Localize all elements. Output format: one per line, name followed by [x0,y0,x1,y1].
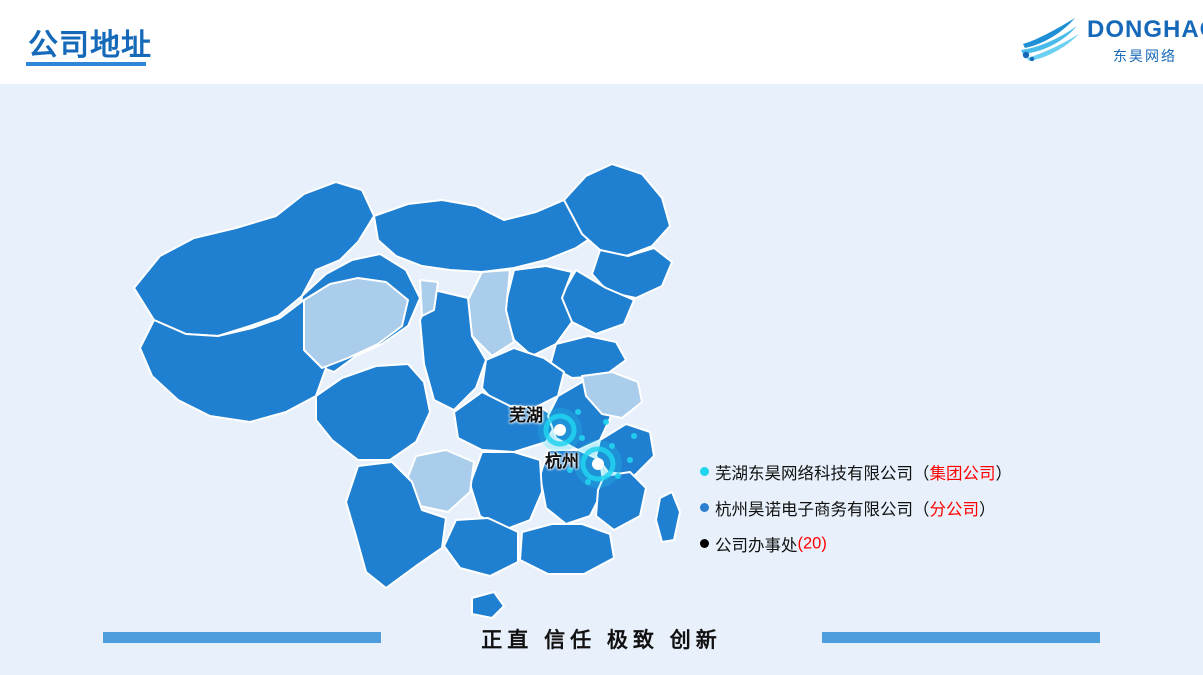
marker-wuhu [538,408,582,452]
legend-label: 公司办事处 [715,537,798,555]
province-taiwan [656,492,680,542]
legend-emphasis: (20) [798,535,827,553]
legend-item-offices: 公司办事处(20) [700,532,1170,568]
slide-root: 公司地址 DONGHAO 东昊网络 [0,0,1203,675]
logo-text-cn: 东昊网络 [1113,46,1177,66]
legend-dot-icon [700,539,709,548]
legend-dot-icon [700,467,709,476]
province-hainan [472,592,504,618]
logo-text-en: DONGHAO [1087,16,1203,44]
page-title: 公司地址 [28,20,152,64]
legend-label: 杭州昊诺电子商务有限公司（ [715,501,930,519]
legend-suffix: ） [979,501,996,519]
legend-dot-icon [700,503,709,512]
legend-label: 芜湖东昊网络科技有限公司（ [715,465,930,483]
legend-emphasis: 分公司 [930,501,980,519]
marker-hangzhou [574,440,622,488]
province-guangxi [444,518,518,576]
china-map-svg [90,120,730,620]
slide-header: 公司地址 DONGHAO 东昊网络 [0,0,1203,84]
province-sichuan [316,364,430,460]
legend-item-group-company: 芜湖东昊网络科技有限公司（集团公司） [700,460,1170,496]
title-underline [26,62,146,66]
legend-item-branch-company: 杭州昊诺电子商务有限公司（分公司） [700,496,1170,532]
map-label-wuhu: 芜湖 [509,401,543,426]
legend-suffix: ） [996,465,1013,483]
province-qinghai [304,278,408,368]
legend-emphasis: 集团公司 [930,465,996,483]
province-inner-mongolia [374,200,600,272]
legend: 芜湖东昊网络科技有限公司（集团公司） 杭州昊诺电子商务有限公司（分公司） 公司办… [700,460,1170,568]
china-map: 芜湖 杭州 [90,120,730,620]
map-label-hangzhou: 杭州 [545,447,579,472]
brand-logo: DONGHAO 东昊网络 [1017,8,1187,70]
footer-bar-right [822,632,1100,643]
fan-burst-logo-icon [1017,14,1083,62]
province-guangdong [520,524,614,574]
